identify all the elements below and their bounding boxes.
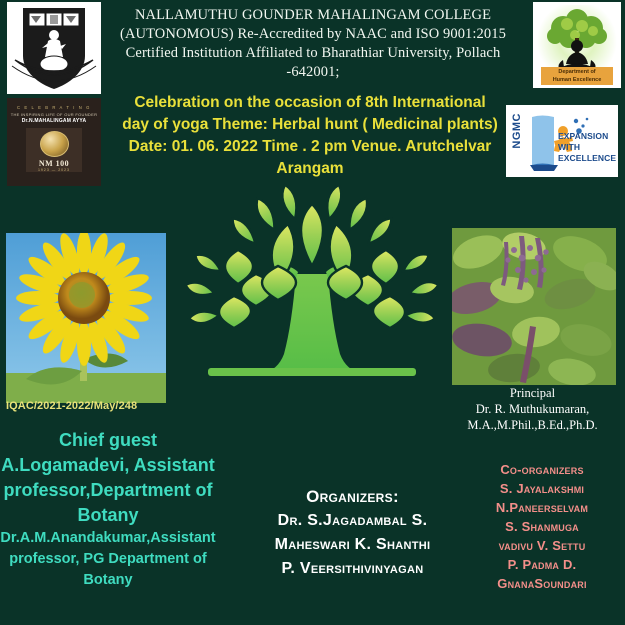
event-line-occasion: Celebration on the occasion of 8th Inter… [100,92,520,114]
herbal-tree-graphic [178,170,446,418]
tree-icon [178,170,446,418]
event-details-text: Celebration on the occasion of 8th Inter… [100,92,520,180]
human-excellence-band: Department of Human Excellence [541,67,613,85]
principal-qualifications: M.A.,M.Phil.,B.Ed.,Ph.D. [440,417,625,433]
chief-guest-line2: professor,Department of [0,478,238,503]
nm100-years: 1923 — 2023 [38,168,70,172]
sunflower-illustration-icon [6,233,166,403]
pincode-line: -642001; [104,63,522,82]
nm100-celebrating-label: C E L E B R A T I N G [7,105,101,110]
college-crest-logo [7,2,101,94]
co-organizers-block: Co-organizers S. Jayalakshmi N.Paneersel… [462,460,622,593]
ngmc-tagline-line2: EXCELLENCE [558,153,618,164]
chief-guest-line6: Botany [0,570,238,591]
organizers-line2: Maheswari K. Shanthi [240,533,465,557]
co-organizers-line6: GnanaSoundari [462,574,622,593]
chief-guest-heading: Chief guest [0,428,238,453]
chief-guest-line4: Dr.A.M.Anandakumar,Assistant [0,528,238,549]
human-excellence-line1: Department of [541,68,613,76]
crest-icon [11,4,97,92]
co-organizers-line2: N.Paneerselvam [462,498,622,517]
event-line-datetime-venue: Date: 01. 06. 2022 Time . 2 pm Venue. Ar… [100,136,520,158]
organizers-heading: Organizers: [240,485,465,509]
nm100-founder-poster: C E L E B R A T I N G THE INSPIRING LIFE… [7,98,101,186]
affiliation-line: Certified Institution Affiliated to Bhar… [104,44,522,63]
co-organizers-line3: S. Shanmuga [462,517,622,536]
poster-canvas: C E L E B R A T I N G THE INSPIRING LIFE… [0,0,625,625]
sunflower-photo [6,233,166,403]
principal-block: Principal Dr. R. Muthukumaran, M.A.,M.Ph… [440,385,625,433]
principal-name: Dr. R. Muthukumaran, [440,401,625,417]
nm100-medal-frame: NM 100 1923 — 2023 [26,128,82,172]
human-excellence-line2: Human Excellence [541,76,613,84]
nm100-founder-name: Dr.N.MAHALINGAM AYYA [7,118,101,124]
college-header-text: NALLAMUTHU GOUNDER MAHALINGAM COLLEGE (A… [104,6,522,82]
nm100-inspiring-label: THE INSPIRING LIFE OF OUR FOUNDER [7,112,101,117]
chief-guest-block: Chief guest A.Logamadevi, Assistant prof… [0,428,238,591]
organizers-line1: Dr. S.Jagadambal S. [240,509,465,533]
ngmc-tagline-line1: EXPANSION WITH [558,131,618,153]
ngmc-tagline: EXPANSION WITH EXCELLENCE [558,131,618,164]
co-organizers-line5: P. Padma D. [462,555,622,574]
organizers-block: Organizers: Dr. S.Jagadambal S. Maheswar… [240,485,465,581]
chief-guest-line5: professor, PG Department of [0,549,238,570]
chief-guest-line1: A.Logamadevi, Assistant [0,453,238,478]
founder-portrait-medal-icon [40,131,69,157]
human-excellence-logo: Department of Human Excellence [533,2,621,88]
organizers-line3: P. Veersithivinyagan [240,557,465,581]
co-organizers-line1: S. Jayalakshmi [462,479,622,498]
iqac-reference-number: IQAC/2021-2022/May/248 [6,400,137,412]
chief-guest-line3: Botany [0,503,238,528]
accreditation-line: (AUTONOMOUS) Re-Accredited by NAAC and I… [104,25,522,44]
co-organizers-heading: Co-organizers [462,460,622,479]
college-name-line: NALLAMUTHU GOUNDER MAHALINGAM COLLEGE [104,6,522,25]
co-organizers-line4: vadivu V. Settu [462,536,622,555]
holy-basil-illustration-icon [452,228,616,385]
event-line-theme: day of yoga Theme: Herbal hunt ( Medicin… [100,114,520,136]
tulsi-plant-photo [452,228,616,385]
nm100-wordmark: NM 100 [39,159,69,168]
principal-title: Principal [440,385,625,401]
ngmc-expansion-logo: NGMC EXPANSION WITH EXCELLENCE [506,105,618,177]
